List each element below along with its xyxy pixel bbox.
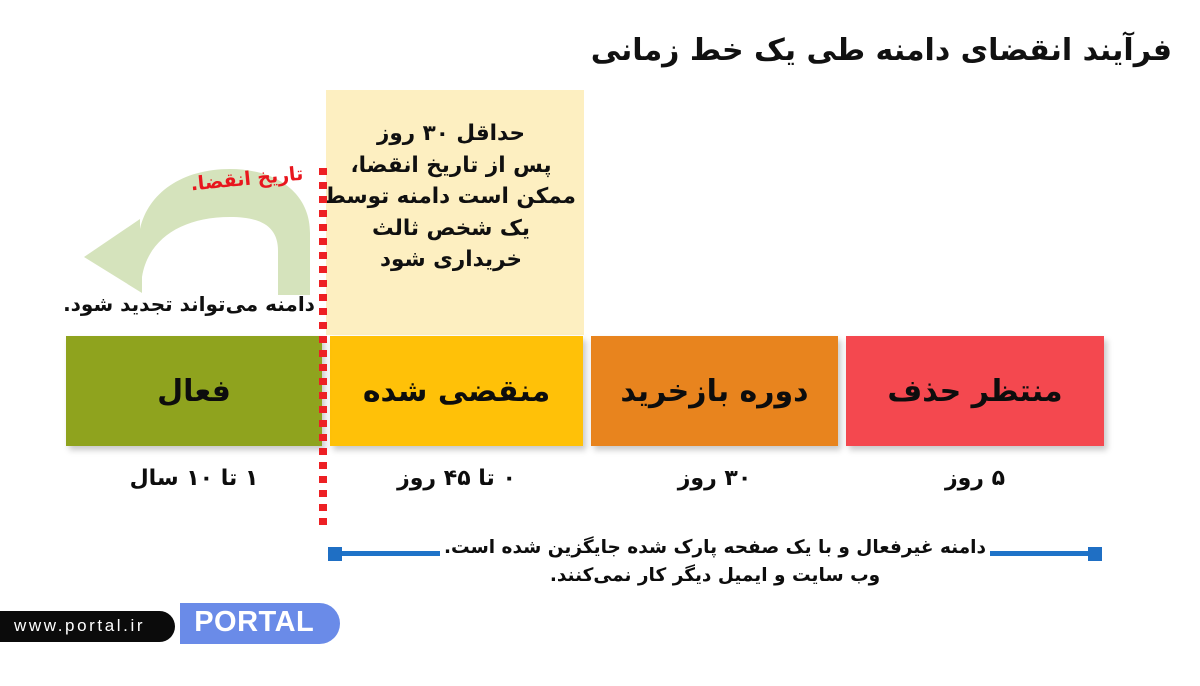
expiry-date-dotted-line [319, 168, 327, 526]
inactive-footnote: دامنه غیرفعال و با یک صفحه پارک شده جایگ… [330, 534, 1100, 590]
stage-bar-redemption-period[interactable]: دوره بازخرید [591, 336, 838, 446]
stage-duration-redemption-period: ۳۰ روز [591, 466, 838, 491]
timeline-stage-track: فعال منقضی شده دوره بازخرید منتظر حذف [0, 336, 1200, 446]
callout-line-5: خریداری شود [326, 244, 576, 276]
stage-bar-active[interactable]: فعال [66, 336, 322, 446]
third-party-purchase-callout-text: حداقل ۳۰ روز پس از تاریخ انقضا، ممکن است… [326, 118, 576, 276]
stage-label-active: فعال [157, 374, 231, 409]
stage-label-pending-delete: منتظر حذف [887, 374, 1062, 409]
infographic-canvas: فرآیند انقضای دامنه طی یک خط زمانی حداقل… [0, 0, 1200, 686]
renewal-caption: دامنه می‌تواند تجدید شود. [60, 292, 318, 316]
stage-duration-pending-delete: ۵ روز [846, 466, 1104, 491]
footnote-line-1: دامنه غیرفعال و با یک صفحه پارک شده جایگ… [440, 534, 990, 562]
page-title: فرآیند انقضای دامنه طی یک خط زمانی [552, 32, 1172, 70]
watermark-url: www.portal.ir [0, 611, 175, 642]
stage-label-expired: منقضی شده [363, 374, 550, 409]
callout-line-1: حداقل ۳۰ روز [326, 118, 576, 150]
callout-line-2: پس از تاریخ انقضا، [326, 150, 576, 182]
stage-bar-expired[interactable]: منقضی شده [330, 336, 583, 446]
watermark-brand: PORTAL [180, 603, 340, 644]
footnote-line-2: وب سایت و ایمیل دیگر کار نمی‌کنند. [330, 562, 1100, 590]
callout-line-3: ممکن است دامنه توسط [326, 181, 576, 213]
stage-label-redemption-period: دوره بازخرید [620, 374, 808, 409]
stage-bar-pending-delete[interactable]: منتظر حذف [846, 336, 1104, 446]
stage-duration-active: ۱ تا ۱۰ سال [66, 466, 322, 491]
stage-duration-expired: ۰ تا ۴۵ روز [330, 466, 583, 491]
portal-watermark: PORTAL www.portal.ir [0, 603, 340, 644]
callout-line-4: یک شخص ثالث [326, 213, 576, 245]
